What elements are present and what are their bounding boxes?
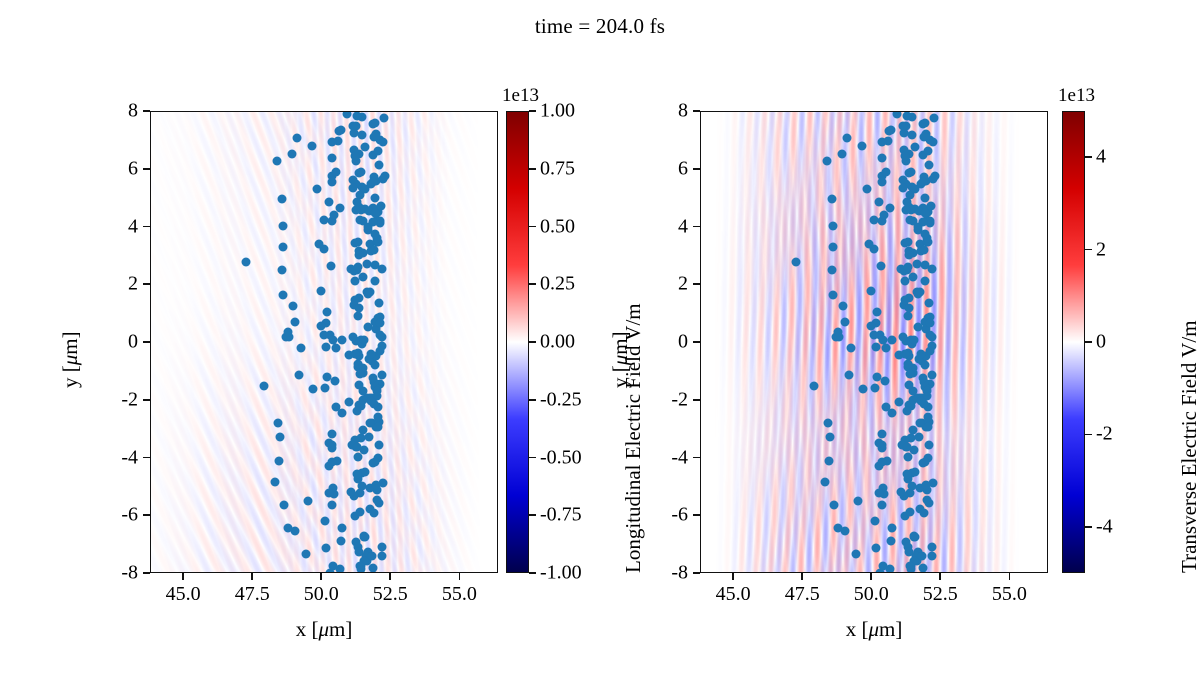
y-tick-label: 2 <box>644 273 688 296</box>
particle-dot <box>877 138 886 147</box>
particle-dot <box>901 349 910 358</box>
particle-dot <box>327 457 336 466</box>
particle-dot <box>926 217 935 226</box>
particle-dot <box>290 526 299 535</box>
particle-dot <box>360 468 369 477</box>
particle-dot <box>920 118 929 127</box>
particle-dot <box>351 151 360 160</box>
particle-dot <box>821 477 830 486</box>
particle-dot <box>349 332 358 341</box>
particle-dot <box>896 487 905 496</box>
particle-dot <box>355 303 364 312</box>
particle-dot <box>833 327 842 336</box>
particle-dot <box>907 168 916 177</box>
particle-dot <box>920 276 929 285</box>
x-tick-mark <box>182 573 184 580</box>
particle-dot <box>294 370 303 379</box>
particle-dot <box>376 217 385 226</box>
particle-dot <box>355 547 364 556</box>
colorbar-tick-mark <box>529 399 536 401</box>
particle-dot <box>873 308 882 317</box>
particle-dot <box>902 469 911 478</box>
particle-dot <box>278 194 287 203</box>
y-tick-label: 6 <box>644 157 688 180</box>
figure-title: time = 204.0 fs <box>0 14 1200 39</box>
particle-dot <box>324 198 333 207</box>
particle-dot <box>346 487 355 496</box>
particle-dot <box>810 382 819 391</box>
particle-dot <box>871 343 880 352</box>
particle-dot <box>242 258 251 267</box>
particle-dot <box>886 203 895 212</box>
particle-dot <box>867 286 876 295</box>
colorbar-tick-mark <box>529 110 536 112</box>
particle-dot <box>278 222 287 231</box>
particle-dot <box>829 500 838 509</box>
particle-dot <box>928 137 937 146</box>
particle-dot <box>921 193 930 202</box>
particle-dot <box>869 331 878 340</box>
particle-dot <box>313 185 322 194</box>
y-tick-label: -4 <box>94 446 138 469</box>
particle-dot <box>881 168 890 177</box>
colorbar-tick-label: 2 <box>1096 238 1106 261</box>
y-tick-mark <box>143 341 150 343</box>
y-tick-label: 4 <box>94 215 138 238</box>
particle-dot <box>375 499 384 508</box>
colorbar-tick-mark <box>1085 526 1092 528</box>
colorbar-axis-label: Longitudinal Electric Field V/m <box>621 303 646 573</box>
particle-dot <box>336 203 345 212</box>
particle-dot <box>367 396 376 405</box>
particle-dot <box>792 258 801 267</box>
particle-dot <box>882 343 891 352</box>
particle-dot <box>374 146 383 155</box>
particle-dot <box>906 508 915 517</box>
particle-dot <box>925 499 934 508</box>
particle-dot <box>360 531 369 540</box>
y-tick-label: -2 <box>644 388 688 411</box>
colorbar-offset-text: 1e13 <box>502 85 539 107</box>
particle-dot <box>847 343 856 352</box>
x-tick-label: 45.0 <box>166 583 201 606</box>
particle-dot <box>317 286 326 295</box>
particle-dot <box>371 193 380 202</box>
particle-dot <box>880 376 889 385</box>
y-tick-mark <box>693 341 700 343</box>
particle-dot <box>854 496 863 505</box>
x-tick-mark <box>459 573 461 580</box>
particle-dot <box>844 370 853 379</box>
particle-dot <box>358 131 367 140</box>
colorbar-tick-label: 0 <box>1096 331 1106 354</box>
particle-dot <box>373 422 382 431</box>
colorbar-tick-label: -0.75 <box>540 504 582 527</box>
particle-dot <box>928 265 937 274</box>
particle-dot <box>863 185 872 194</box>
y-tick-mark <box>693 514 700 516</box>
particle-dot <box>371 361 380 370</box>
x-tick-mark <box>939 573 941 580</box>
particle-dot <box>905 381 914 390</box>
x-tick-mark <box>389 573 391 580</box>
particle-dot <box>904 263 913 272</box>
particle-dot <box>928 370 937 379</box>
y-tick-mark <box>693 457 700 459</box>
particle-dot <box>378 552 387 561</box>
particle-dot <box>325 488 334 497</box>
colorbar-tick-mark <box>529 572 536 574</box>
particle-dot <box>375 161 384 170</box>
particle-dot <box>301 549 310 558</box>
x-tick-mark <box>1009 573 1011 580</box>
particle-dot <box>841 317 850 326</box>
x-tick-mark <box>870 573 872 580</box>
particle-dot <box>275 457 284 466</box>
colorbar-tick-label: 0.75 <box>540 157 575 180</box>
y-tick-mark <box>693 226 700 228</box>
y-tick-mark <box>143 514 150 516</box>
particle-dot <box>901 151 910 160</box>
y-tick-label: -8 <box>644 562 688 585</box>
particle-dot <box>920 229 929 238</box>
axes-transverse-field[interactable] <box>700 111 1048 573</box>
y-tick-label: 0 <box>644 331 688 354</box>
particle-dot <box>353 442 362 451</box>
y-tick-label: 4 <box>644 215 688 238</box>
particle-dot <box>330 376 339 385</box>
colorbar-tick-mark <box>1085 341 1092 343</box>
particle-dot <box>370 246 379 255</box>
colorbar-tick-label: -2 <box>1096 423 1113 446</box>
particle-dot <box>378 174 387 183</box>
particle-dot <box>920 246 929 255</box>
particle-dot <box>908 273 917 282</box>
y-tick-label: -6 <box>644 504 688 527</box>
particle-dot <box>353 407 362 416</box>
colorbar-axis-label: Transverse Electric Field V/m <box>1177 320 1200 573</box>
particle-dot <box>321 544 330 553</box>
particle-dot <box>918 374 927 383</box>
particle-dot <box>337 536 346 545</box>
particle-dot <box>351 349 360 358</box>
x-tick-mark <box>251 573 253 580</box>
particle-dot <box>376 202 385 211</box>
particle-dot <box>364 433 373 442</box>
particle-dot <box>323 308 332 317</box>
particle-dot <box>374 441 383 450</box>
particle-dot <box>378 370 387 379</box>
colorbar-tick-mark <box>1085 249 1092 251</box>
particle-dot <box>903 111 912 120</box>
particle-dot <box>276 432 285 441</box>
x-tick-label: 50.0 <box>304 583 339 606</box>
particle-dot <box>918 564 927 573</box>
particle-dot <box>918 178 927 187</box>
y-tick-label: -4 <box>644 446 688 469</box>
particle-dot <box>906 216 915 225</box>
particle-dot <box>287 149 296 158</box>
particle-dot <box>366 287 375 296</box>
particle-dot <box>902 205 911 214</box>
particle-dot <box>828 222 837 231</box>
particle-dot <box>370 276 379 285</box>
y-tick-label: 2 <box>94 273 138 296</box>
particle-dot <box>378 137 387 146</box>
particle-dot <box>904 359 913 368</box>
particle-dot <box>271 477 280 486</box>
particle-dot <box>870 517 879 526</box>
particle-dot <box>843 133 852 142</box>
particle-dot <box>277 266 286 275</box>
particle-dot <box>859 384 868 393</box>
particle-dot <box>376 318 385 327</box>
particle-dot <box>279 290 288 299</box>
particle-dot <box>894 397 903 406</box>
particle-dot <box>877 153 886 162</box>
y-tick-mark <box>693 572 700 574</box>
particle-dot <box>358 273 367 282</box>
particle-dot <box>352 469 361 478</box>
particle-dot <box>904 312 913 321</box>
particle-dot <box>320 517 329 526</box>
particle-dot <box>876 262 885 271</box>
particle-dot <box>870 384 879 393</box>
colorbar-tick-label: -4 <box>1096 515 1113 538</box>
particle-dot <box>279 242 288 251</box>
particle-dot <box>297 343 306 352</box>
particle-dot <box>899 332 908 341</box>
particle-dot <box>875 488 884 497</box>
particle-dot <box>329 561 338 570</box>
particle-dot <box>260 382 269 391</box>
y-tick-label: -6 <box>94 504 138 527</box>
particle-dot <box>273 418 282 427</box>
particle-dot <box>875 438 884 447</box>
particle-dot <box>356 370 365 379</box>
colorbar-transverse[interactable] <box>1062 111 1085 573</box>
x-tick-label: 55.0 <box>992 583 1027 606</box>
particle-dot <box>864 239 873 248</box>
particle-dot <box>314 239 323 248</box>
particle-dot <box>905 547 914 556</box>
particle-dot <box>366 350 375 359</box>
x-axis-label: x [μm] <box>846 617 903 642</box>
particle-dot <box>327 138 336 147</box>
particle-dot <box>359 336 368 345</box>
colorbar-tick-label: 0.50 <box>540 215 575 238</box>
y-axis-label: y [μm] <box>58 331 83 388</box>
particle-dot <box>377 543 386 552</box>
particle-dot <box>356 508 365 517</box>
colorbar-tick-mark <box>529 168 536 170</box>
y-tick-mark <box>143 399 150 401</box>
y-tick-mark <box>143 457 150 459</box>
particle-dot <box>272 157 281 166</box>
particle-dot <box>332 343 341 352</box>
colorbar-tick-label: 1.00 <box>540 100 575 123</box>
colorbar-tick-mark <box>529 341 536 343</box>
particle-dot <box>372 481 381 490</box>
particle-dot <box>906 370 915 379</box>
particle-dot <box>374 299 383 308</box>
particle-dot <box>828 194 837 203</box>
x-tick-label: 50.0 <box>854 583 889 606</box>
particle-dot <box>368 551 377 560</box>
particle-dot <box>920 458 929 467</box>
y-tick-mark <box>693 399 700 401</box>
particle-dot <box>887 523 896 532</box>
particle-dot <box>916 350 925 359</box>
particle-dot <box>914 433 923 442</box>
particle-dot <box>344 397 353 406</box>
particle-dot <box>909 336 918 345</box>
y-tick-mark <box>693 283 700 285</box>
particle-dot <box>826 432 835 441</box>
particle-dot <box>328 500 337 509</box>
x-axis-label: x [μm] <box>296 617 353 642</box>
particle-dot <box>926 318 935 327</box>
colorbar-tick-mark <box>1085 156 1092 158</box>
y-tick-label: -8 <box>94 562 138 585</box>
particle-dot <box>378 265 387 274</box>
particle-dot <box>887 536 896 545</box>
particle-dot <box>867 322 876 331</box>
particle-dot <box>879 561 888 570</box>
particle-dot <box>887 335 896 344</box>
y-tick-mark <box>143 110 150 112</box>
particle-dot <box>370 458 379 467</box>
particle-dot <box>927 543 936 552</box>
particle-dot <box>916 287 925 296</box>
particle-dot <box>370 229 379 238</box>
y-tick-mark <box>143 168 150 170</box>
particle-dot <box>368 218 377 227</box>
particle-dot <box>356 216 365 225</box>
particle-dot <box>827 266 836 275</box>
particle-dot <box>929 114 938 123</box>
particle-dot <box>379 114 388 123</box>
y-tick-mark <box>143 226 150 228</box>
particle-dot <box>375 346 384 355</box>
y-tick-mark <box>143 572 150 574</box>
colorbar-tick-mark <box>1085 434 1092 436</box>
particle-dot <box>354 312 363 321</box>
particle-dot <box>923 412 932 421</box>
particle-dot <box>327 153 336 162</box>
particle-dot <box>372 387 381 396</box>
particle-dot <box>837 149 846 158</box>
particle-dot <box>354 263 363 272</box>
particle-dot <box>923 422 932 431</box>
particle-dot <box>922 387 931 396</box>
x-tick-mark <box>732 573 734 580</box>
particle-dot <box>908 131 917 140</box>
particle-dot <box>825 457 834 466</box>
particle-dot <box>308 141 317 150</box>
particle-dot <box>918 551 927 560</box>
particle-dot <box>823 418 832 427</box>
particle-dot <box>368 178 377 187</box>
particle-dot <box>337 523 346 532</box>
particle-dot <box>309 384 318 393</box>
y-tick-label: 0 <box>94 331 138 354</box>
particle-dot <box>928 552 937 561</box>
particle-dot <box>368 374 377 383</box>
particle-dot <box>320 384 329 393</box>
particle-dot <box>354 359 363 368</box>
particle-dot <box>877 457 886 466</box>
particle-dot <box>887 125 896 134</box>
particle-dot <box>858 141 867 150</box>
particle-dot <box>925 346 934 355</box>
y-tick-mark <box>143 283 150 285</box>
particle-dot <box>851 549 860 558</box>
y-tick-mark <box>693 168 700 170</box>
particle-dot <box>353 111 362 120</box>
x-tick-mark <box>801 573 803 580</box>
particle-dot <box>838 302 847 311</box>
y-tick-label: 8 <box>644 100 688 123</box>
particle-dot <box>369 509 378 518</box>
particle-dot <box>903 407 912 416</box>
particle-dot <box>871 544 880 553</box>
particle-dot <box>337 125 346 134</box>
particle-dot <box>840 526 849 535</box>
particle-dot <box>829 242 838 251</box>
particle-dot <box>905 303 914 312</box>
particle-dot <box>288 302 297 311</box>
colorbar-tick-label: 0.25 <box>540 273 575 296</box>
particle-dot <box>910 531 919 540</box>
particle-dot <box>918 218 927 227</box>
colorbar-tick-label: -1.00 <box>540 562 582 585</box>
particle-dot <box>370 118 379 127</box>
colorbar-tick-label: 0.00 <box>540 331 575 354</box>
colorbar-tick-mark <box>529 226 536 228</box>
particle-dot <box>925 161 934 170</box>
colorbar-tick-label: 4 <box>1096 146 1106 169</box>
particle-dot <box>917 396 926 405</box>
particle-dot <box>910 468 919 477</box>
particle-dot <box>926 202 935 211</box>
particle-dot <box>325 438 334 447</box>
y-tick-mark <box>693 110 700 112</box>
figure-canvas: time = 204.0 fs 45.047.550.052.555.08642… <box>0 0 1200 675</box>
particle-dot <box>878 500 887 509</box>
colorbar-tick-label: -0.50 <box>540 446 582 469</box>
axes-longitudinal-field[interactable] <box>150 111 498 573</box>
x-tick-label: 52.5 <box>923 583 958 606</box>
particle-dot <box>928 174 937 183</box>
particle-dot <box>349 121 358 130</box>
particle-dot <box>368 564 377 573</box>
particle-dot <box>337 335 346 344</box>
particle-dot <box>903 442 912 451</box>
y-tick-label: 6 <box>94 157 138 180</box>
particle-dot <box>356 562 365 571</box>
particle-dot <box>874 198 883 207</box>
particle-dot <box>352 205 361 214</box>
colorbar-longitudinal[interactable] <box>506 111 529 573</box>
particle-dot <box>906 562 915 571</box>
x-tick-mark <box>320 573 322 580</box>
particle-dot <box>317 322 326 331</box>
particle-dot <box>924 146 933 155</box>
particle-dot <box>881 403 890 412</box>
particle-dot <box>283 327 292 336</box>
x-tick-label: 47.5 <box>235 583 270 606</box>
